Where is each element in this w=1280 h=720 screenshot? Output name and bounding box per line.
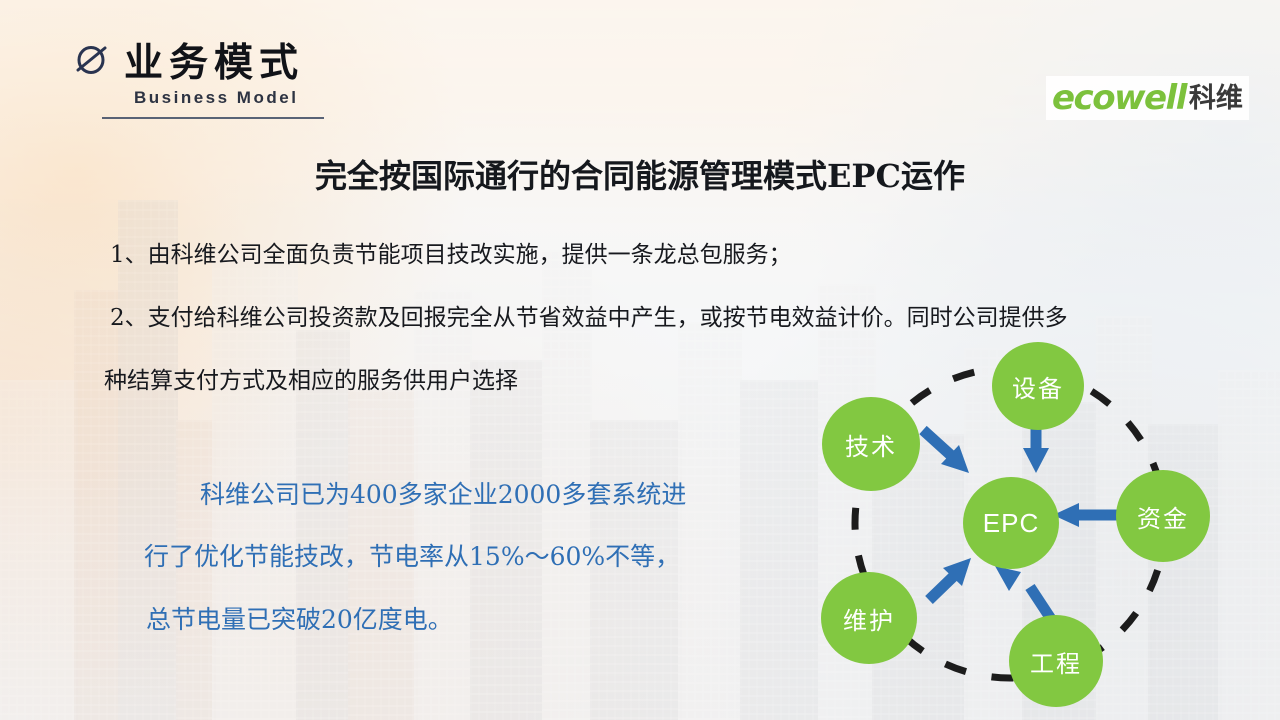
diagram-node-equipment[interactable]: 设备 xyxy=(992,342,1084,430)
highlight-line-2: 行了优化节能技改，节电率从15%～60%不等， xyxy=(144,537,680,573)
diagram-node-center[interactable]: EPC xyxy=(963,477,1059,569)
slide-heading: 完全按国际通行的合同能源管理模式EPC运作 xyxy=(0,151,1280,197)
slide-canvas: 业务模式 Business Model ecowell 科维 完全按国际通行的合… xyxy=(0,0,1280,720)
logo-text-en: ecowell xyxy=(1052,81,1186,115)
highlight-line-3: 总节电量已突破20亿度电。 xyxy=(146,600,453,636)
logo-text-cn: 科维 xyxy=(1189,85,1243,112)
page-title: 业务模式 xyxy=(124,32,304,88)
diagram-node-engineering[interactable]: 工程 xyxy=(1009,615,1103,707)
bullet-item-2-cont: 种结算支付方式及相应的服务供用户选择 xyxy=(104,361,518,395)
epc-cycle-diagram: EPC 设备 资金 工程 维护 技术 xyxy=(795,325,1235,720)
diagram-node-funding[interactable]: 资金 xyxy=(1116,470,1210,562)
company-logo: ecowell 科维 xyxy=(1046,76,1249,120)
slashed-circle-icon xyxy=(70,38,112,80)
diagram-node-technology[interactable]: 技术 xyxy=(822,397,920,491)
bullet-item-1: 1、由科维公司全面负责节能项目技改实施，提供一条龙总包服务； xyxy=(110,235,792,269)
page-subtitle: Business Model xyxy=(134,88,298,108)
diagram-node-maintenance[interactable]: 维护 xyxy=(821,572,917,664)
highlight-line-1: 科维公司已为400多家企业2000多套系统进 xyxy=(200,475,686,511)
title-divider xyxy=(102,117,324,119)
